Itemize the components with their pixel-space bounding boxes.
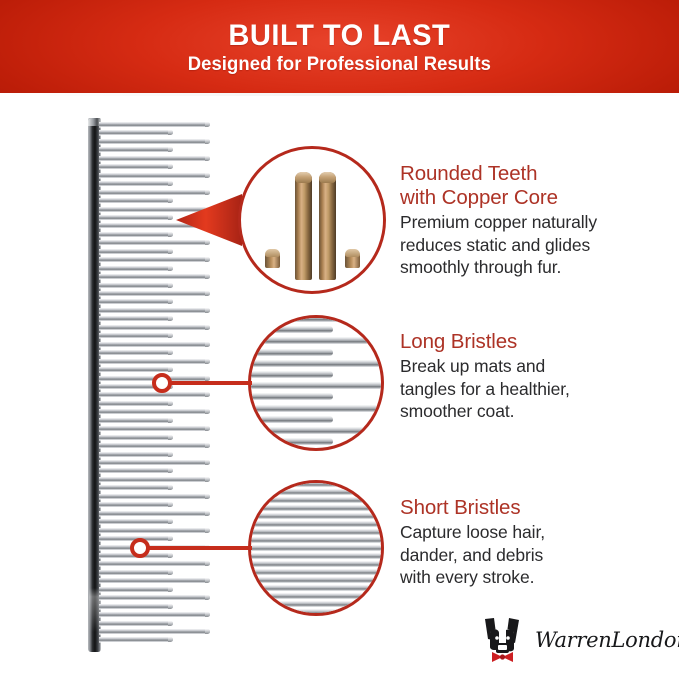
feature-body-line1: Premium copper naturally	[400, 212, 597, 232]
comb-tooth-tip	[168, 553, 173, 558]
comb-tooth-short	[99, 198, 173, 203]
comb-tooth-long	[99, 139, 210, 144]
bristle-dense	[251, 481, 381, 487]
comb-tooth-tip	[168, 452, 173, 457]
comb-tooth-long	[99, 460, 210, 465]
short-bristles-illustration	[251, 483, 381, 613]
comb-tooth-tip	[168, 147, 173, 152]
comb-tooth-tip	[205, 359, 210, 364]
comb-tooth-long	[99, 308, 210, 313]
comb-tooth-short	[99, 519, 173, 524]
bristle-short	[251, 438, 333, 445]
comb-tooth-short	[99, 283, 173, 288]
comb-tooth-tip	[205, 409, 210, 414]
comb-tooth-short	[99, 266, 173, 271]
comb-tooth-short	[99, 621, 173, 626]
comb-tooth-tip	[205, 325, 210, 330]
comb-tooth-tip	[168, 621, 173, 626]
feature-title-line1: Rounded Teeth	[400, 162, 537, 185]
bristle-dense	[251, 513, 381, 519]
comb-tooth-tip	[205, 578, 210, 583]
comb-tooth-short	[99, 215, 173, 220]
infographic-root: BUILT TO LAST Designed for Professional …	[0, 0, 679, 679]
comb-tooth-short	[99, 435, 173, 440]
feature-body-line2: dander, and debris	[400, 545, 543, 565]
feature-body-line2: tangles for a healthier,	[400, 379, 570, 399]
bristle-dense	[251, 593, 381, 599]
comb-tooth-tip	[205, 477, 210, 482]
comb-tooth-tip	[205, 392, 210, 397]
copper-stub-tip	[265, 249, 280, 257]
comb-tooth-tip	[168, 570, 173, 575]
comb-tooth-tip	[168, 249, 173, 254]
callout-line-short-bristles	[148, 546, 252, 550]
bristle-dense	[251, 545, 381, 551]
callout-circle-rounded-teeth	[238, 146, 386, 294]
callout-line-long-bristles	[170, 381, 252, 385]
copper-pins-illustration	[241, 149, 383, 291]
comb-tooth-short	[99, 299, 173, 304]
comb-tooth-short	[99, 604, 173, 609]
comb-tooth-short	[99, 401, 173, 406]
comb-tooth-short	[99, 350, 173, 355]
comb-tooth-tip	[168, 350, 173, 355]
comb-tooth-short	[99, 333, 173, 338]
comb-tooth-long	[99, 342, 210, 347]
bristle-dense	[251, 577, 381, 583]
comb-tooth-tip	[168, 164, 173, 169]
feature-block-long-bristles: Long Bristles Break up mats and tangles …	[400, 330, 668, 423]
bristle-long	[251, 449, 383, 451]
comb-tooth-tip	[205, 443, 210, 448]
boston-terrier-dog-icon	[478, 615, 528, 665]
comb-tooth-tip	[205, 612, 210, 617]
feature-block-short-bristles: Short Bristles Capture loose hair, dande…	[400, 496, 668, 589]
comb-tooth-long	[99, 173, 210, 178]
header-divider	[0, 93, 679, 96]
comb-tooth-short	[99, 637, 173, 642]
callout-dot-long-bristles	[152, 373, 172, 393]
comb-tooth-tip	[205, 308, 210, 313]
feature-title-line1: Short Bristles	[400, 496, 521, 519]
comb-tooth-tip	[168, 435, 173, 440]
comb-tooth-tip	[168, 333, 173, 338]
copper-pin-right	[319, 172, 336, 280]
callout-circle-long-bristles	[248, 315, 384, 451]
copper-stub-tip	[345, 249, 360, 257]
callout-circle-short-bristles	[248, 480, 384, 616]
comb-tooth-long	[99, 477, 210, 482]
bristle-long	[251, 427, 383, 434]
bowtie-icon	[492, 652, 513, 662]
comb-tooth-tip	[168, 266, 173, 271]
comb-tooth-long	[99, 426, 210, 431]
comb-tooth-tip	[205, 342, 210, 347]
comb-tooth-short	[99, 367, 173, 372]
comb-tooth-tip	[168, 519, 173, 524]
bristle-short	[251, 416, 333, 423]
comb-tooth-tip	[168, 181, 173, 186]
feature-body-line3: with every stroke.	[400, 567, 534, 587]
bristle-long	[251, 360, 383, 367]
callout-dot-short-bristles	[130, 538, 150, 558]
copper-pin-tip	[319, 172, 336, 183]
bristle-short	[251, 349, 333, 356]
bristle-dense	[251, 489, 381, 495]
comb-tooth-tip	[205, 528, 210, 533]
comb-tooth-tip	[168, 232, 173, 237]
bristle-dense	[251, 529, 381, 535]
bristle-dense	[251, 553, 381, 559]
comb-tooth-tip	[205, 595, 210, 600]
feature-body: Premium copper naturally reduces static …	[400, 211, 668, 279]
bristle-long	[251, 405, 383, 412]
comb-tooth-tip	[168, 468, 173, 473]
bristle-dense	[251, 569, 381, 575]
feature-title: Rounded Teeth with Copper Core	[400, 162, 668, 210]
comb-tooth-tip	[168, 418, 173, 423]
comb-tooth-tip	[205, 257, 210, 262]
bristle-dense	[251, 497, 381, 503]
comb-tooth-long	[99, 291, 210, 296]
comb-tooth-tip	[168, 587, 173, 592]
comb-tooth-short	[99, 468, 173, 473]
comb-tooth-long	[99, 409, 210, 414]
comb-tooth-tip	[168, 283, 173, 288]
comb-tooth-long	[99, 511, 210, 516]
callout-wedge-pointer	[176, 194, 242, 246]
comb-tooth-long	[99, 443, 210, 448]
brand-name: WarrenLondon™	[535, 628, 679, 652]
comb-tooth-short	[99, 147, 173, 152]
comb-tooth-long	[99, 359, 210, 364]
comb-tooth-tip	[168, 215, 173, 220]
bristle-dense	[251, 585, 381, 591]
bristle-dense	[251, 561, 381, 567]
comb-tooth-short	[99, 418, 173, 423]
page-title: BUILT TO LAST	[229, 20, 451, 52]
comb-tooth-tip	[168, 536, 173, 541]
comb-tooth-long	[99, 612, 210, 617]
copper-pin-tip	[295, 172, 312, 183]
comb-tooth-long	[99, 325, 210, 330]
comb-tooth-tip	[168, 130, 173, 135]
comb-tooth-short	[99, 316, 173, 321]
feature-title: Short Bristles	[400, 496, 668, 520]
long-bristles-illustration	[251, 318, 381, 448]
comb-tooth-tip	[168, 299, 173, 304]
comb-tooth-tip	[205, 139, 210, 144]
comb-tooth-short	[99, 181, 173, 186]
comb-tooth-short	[99, 232, 173, 237]
copper-pin-left	[295, 172, 312, 280]
bristle-short	[251, 393, 333, 400]
feature-body-line1: Break up mats and	[400, 356, 545, 376]
comb-tooth-long	[99, 392, 210, 397]
bristle-short	[251, 326, 333, 333]
bristle-dense	[251, 521, 381, 527]
feature-body: Break up mats and tangles for a healthie…	[400, 355, 668, 423]
comb-tooth-tip	[205, 561, 210, 566]
comb-tooth-tip	[168, 485, 173, 490]
bristle-dense	[251, 537, 381, 543]
comb-tooth-short	[99, 502, 173, 507]
feature-body: Capture loose hair, dander, and debris w…	[400, 521, 668, 589]
comb-tooth-long	[99, 561, 210, 566]
comb-tooth-tip	[168, 198, 173, 203]
bristle-long	[251, 315, 383, 322]
comb-tooth-tip	[205, 291, 210, 296]
copper-stub-right	[345, 249, 360, 268]
bristle-dense	[251, 609, 381, 615]
comb-tooth-long	[99, 274, 210, 279]
comb-tooth-long	[99, 629, 210, 634]
feature-title: Long Bristles	[400, 330, 668, 354]
bristle-long	[251, 382, 383, 389]
comb-tooth-long	[99, 595, 210, 600]
feature-body-line3: smoothly through fur.	[400, 257, 561, 277]
comb-tooth-long	[99, 122, 210, 127]
comb-tooth-long	[99, 156, 210, 161]
comb-tooth-long	[99, 257, 210, 262]
comb-tooth-tip	[205, 460, 210, 465]
bristle-short	[251, 371, 333, 378]
comb-tooth-tip	[205, 511, 210, 516]
feature-body-line1: Capture loose hair,	[400, 522, 545, 542]
comb-tooth-tip	[205, 426, 210, 431]
comb-tooth-tip	[168, 637, 173, 642]
comb-tooth-short	[99, 130, 173, 135]
copper-stub-left	[265, 249, 280, 268]
feature-title-line2: with Copper Core	[400, 186, 558, 209]
comb-tooth-short	[99, 164, 173, 169]
comb-tooth-tip	[168, 604, 173, 609]
page-subtitle: Designed for Professional Results	[188, 55, 491, 75]
feature-block-rounded-teeth: Rounded Teeth with Copper Core Premium c…	[400, 162, 668, 279]
comb-tooth-tip	[168, 401, 173, 406]
feature-body-line2: reduces static and glides	[400, 235, 590, 255]
comb-tooth-short	[99, 249, 173, 254]
comb-tooth-tip	[205, 156, 210, 161]
brand-logo: WarrenLondon™	[478, 612, 668, 668]
comb-tooth-tip	[205, 173, 210, 178]
comb-tooth-tip	[168, 367, 173, 372]
comb-tooth-long	[99, 528, 210, 533]
comb-tooth-short	[99, 485, 173, 490]
brand-wordmark: WarrenLondon	[535, 628, 679, 652]
comb-tooth-tip	[168, 502, 173, 507]
comb-tooth-short	[99, 587, 173, 592]
feature-title-line1: Long Bristles	[400, 330, 517, 353]
bristle-dense	[251, 601, 381, 607]
feature-body-line3: smoother coat.	[400, 401, 514, 421]
comb-tooth-long	[99, 494, 210, 499]
bristle-dense	[251, 505, 381, 511]
comb-tooth-tip	[205, 629, 210, 634]
comb-tooth-short	[99, 452, 173, 457]
comb-tooth-tip	[205, 494, 210, 499]
comb-tooth-short	[99, 570, 173, 575]
comb-tooth-tip	[205, 274, 210, 279]
comb-tooth-tip	[205, 376, 210, 381]
bristle-long	[251, 337, 383, 344]
header-banner: BUILT TO LAST Designed for Professional …	[0, 0, 679, 95]
comb-tooth-tip	[205, 122, 210, 127]
comb-tooth-long	[99, 578, 210, 583]
comb-tooth-tip	[168, 316, 173, 321]
